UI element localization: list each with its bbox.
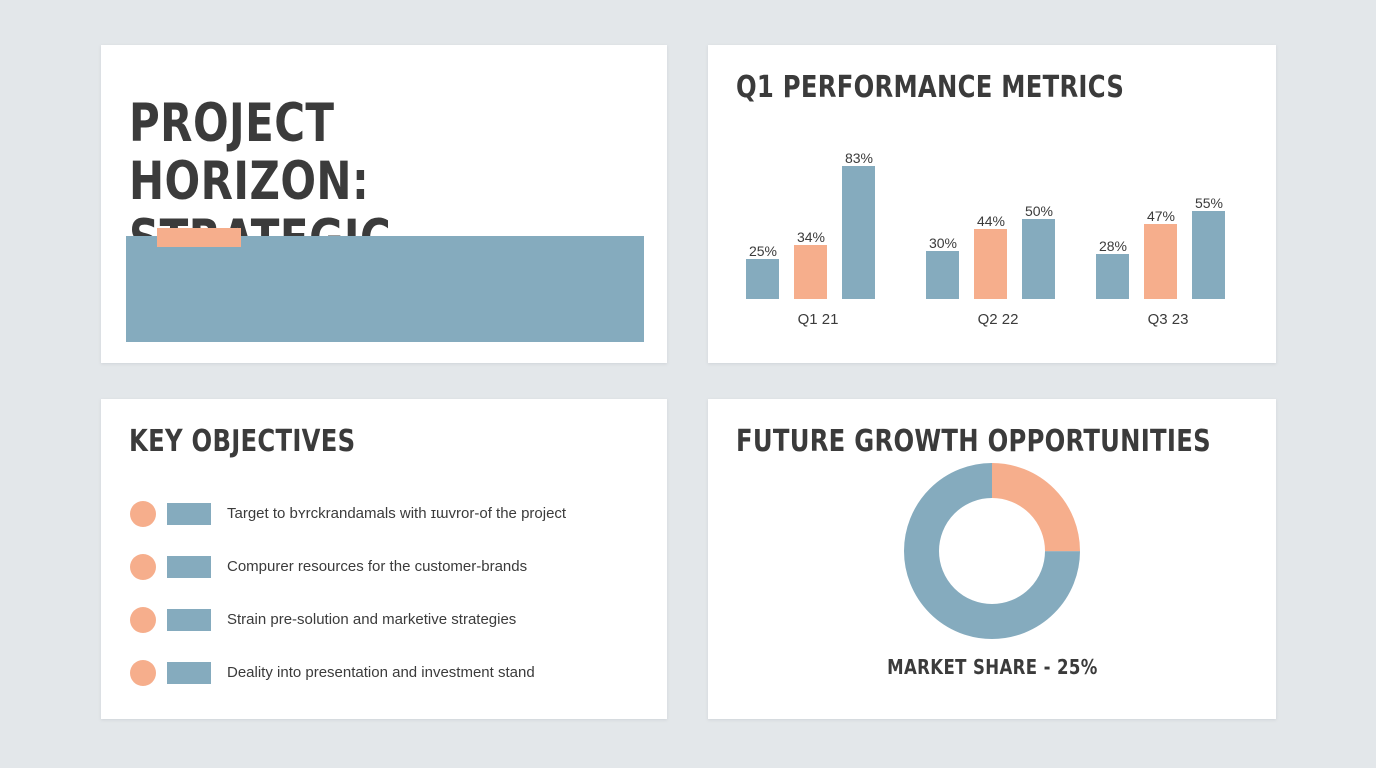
donut-chart: Market Share - 25% [708,461,1276,679]
bar-rect [842,166,875,299]
metrics-card: Q1 Performance Metrics 25% 34% 83% [708,45,1276,363]
bar-rect [1022,219,1055,299]
list-item[interactable]: Compurer resources for the customer-bran… [130,540,635,593]
bar-rect [1096,254,1129,299]
bar-value-label: 25% [733,243,793,259]
slide-canvas: Project Horizon: Strategic Overview Q1 P… [0,0,1376,768]
title-blue-band [126,236,644,342]
growth-heading: Future Growth Opportunities [736,425,1211,459]
bar-rect [794,245,827,299]
title-card: Project Horizon: Strategic Overview [101,45,667,363]
bar-category-label: Q1 21 [746,311,890,328]
bullet-circle-icon [130,554,156,580]
bar-rect [746,259,779,299]
bullet-square-icon [167,609,211,631]
metrics-heading: Q1 Performance Metrics [736,71,1124,105]
bullet-square-icon [167,662,211,684]
bar-value-label: 50% [1009,203,1069,219]
bar-rect [1192,211,1225,299]
objectives-card: Key Objectives Target to bʏrckrandamals … [101,399,667,719]
objectives-heading: Key Objectives [129,425,355,459]
list-item-label: Deality into presentation and investment… [227,664,535,681]
bullet-square-icon [167,503,211,525]
bar-chart: 25% 34% 83% Q1 21 [738,123,1246,343]
bar-category-label: Q2 22 [926,311,1070,328]
bar-category-label: Q3 23 [1096,311,1240,328]
bar-column[interactable]: 28% [1096,139,1129,299]
bullet-circle-icon [130,501,156,527]
list-item[interactable]: Target to bʏrckrandamals with ɪɯvror-of … [130,487,635,540]
bar-column[interactable]: 25% [746,139,779,299]
donut-svg [902,461,1082,641]
bar-column[interactable]: 30% [926,139,959,299]
bar-column[interactable]: 55% [1192,139,1225,299]
bar-value-label: 28% [1083,238,1143,254]
bar-column[interactable]: 47% [1144,139,1177,299]
bar-rect [1144,224,1177,299]
bar-value-label: 83% [829,150,889,166]
bar-value-label: 34% [781,229,841,245]
list-item-label: Target to bʏrckrandamals with ɪɯvror-of … [227,505,566,522]
growth-card: Future Growth Opportunities Market Share… [708,399,1276,719]
bullet-circle-icon [130,607,156,633]
list-item-label: Strain pre-solution and marketive strate… [227,611,516,628]
bar-value-label: 55% [1179,195,1239,211]
bar-value-label: 30% [913,235,973,251]
bar-rect [926,251,959,299]
bullet-square-icon [167,556,211,578]
list-item-label: Compurer resources for the customer-bran… [227,558,527,575]
bar-column[interactable]: 83% [842,139,875,299]
bar-column[interactable]: 50% [1022,139,1055,299]
list-item[interactable]: Deality into presentation and investment… [130,646,635,699]
donut-caption: Market Share - 25% [887,655,1098,679]
bar-column[interactable]: 34% [794,139,827,299]
bar-column[interactable]: 44% [974,139,1007,299]
title-orange-accent [157,228,241,247]
list-item[interactable]: Strain pre-solution and marketive strate… [130,593,635,646]
bar-rect [974,229,1007,299]
objectives-list: Target to bʏrckrandamals with ɪɯvror-of … [130,487,635,699]
bullet-circle-icon [130,660,156,686]
